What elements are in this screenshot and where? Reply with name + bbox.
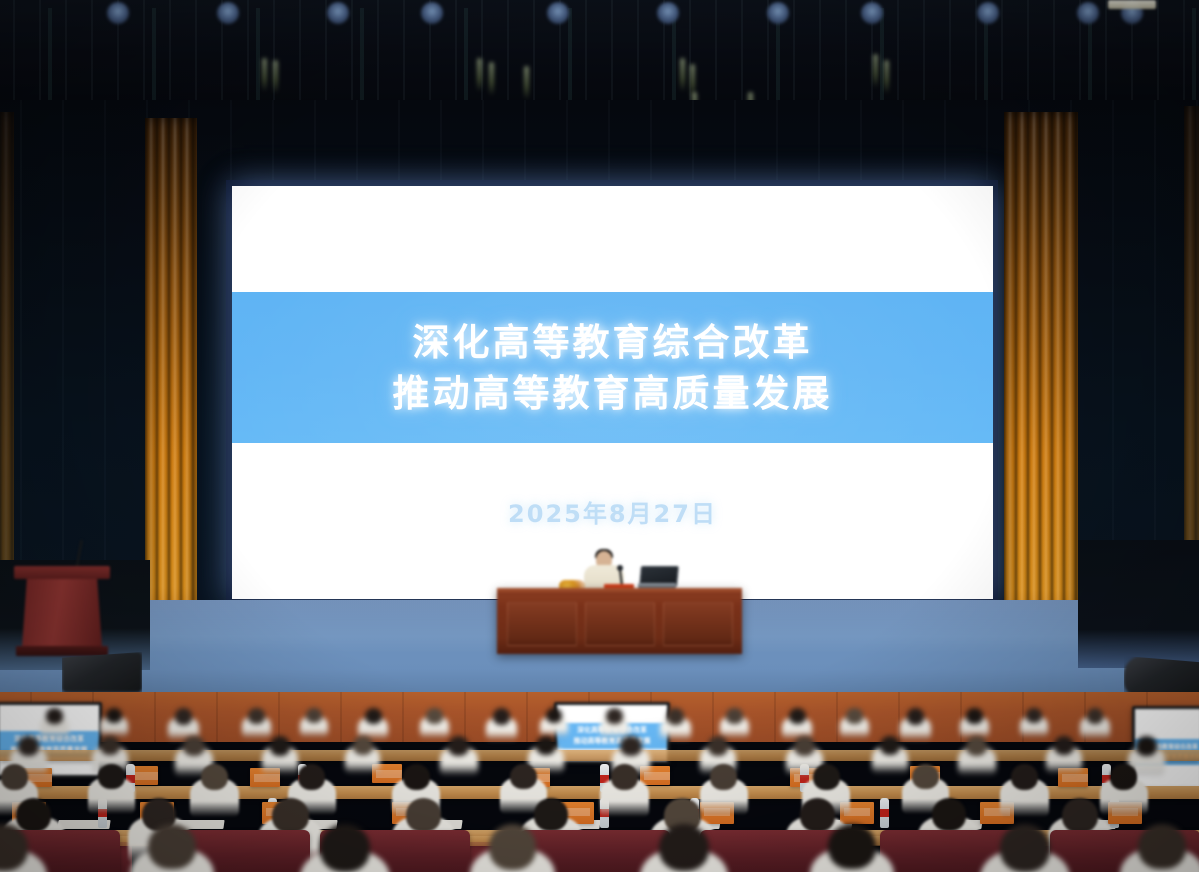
podium-lectern	[18, 566, 106, 658]
audience-member-head	[907, 708, 924, 725]
slide-title-block: 深化高等教育综合改革 推动高等教育高质量发展	[232, 292, 993, 443]
ceiling-lamp	[217, 2, 239, 24]
audience-member-head	[880, 736, 900, 755]
slide-date: 2025年8月27日	[232, 494, 993, 529]
audience-member-head	[1110, 764, 1137, 790]
ceiling-light-fixture	[1108, 0, 1156, 9]
audience-member-head	[18, 736, 39, 756]
audience-member-head	[106, 708, 122, 723]
audience-member-head	[611, 764, 639, 790]
audience-member-head	[183, 736, 204, 756]
audience-member-head	[1138, 824, 1185, 869]
audience-member-head	[966, 736, 987, 756]
audience-member-head	[270, 736, 290, 756]
audience-member-head	[912, 764, 938, 789]
audience-member-head	[546, 708, 562, 723]
stage-curtain-right	[1004, 112, 1078, 667]
head-table-panel	[585, 602, 655, 646]
audience-member-head	[1026, 708, 1042, 723]
audience-member-head	[659, 824, 709, 871]
audience-member-head	[272, 798, 308, 833]
audience-member-head	[1, 764, 28, 790]
stage-light-glint	[273, 60, 278, 94]
ceiling-lamp	[547, 2, 569, 24]
audience-member-head	[813, 764, 840, 790]
audience-member-head	[620, 736, 641, 756]
audience-member-head	[46, 708, 62, 724]
audience-member-head	[175, 708, 192, 725]
audience-member-head	[365, 708, 382, 724]
podium-body	[22, 579, 102, 647]
audience-member-head	[100, 736, 120, 755]
audience-member-head	[800, 798, 835, 832]
audience-member-head	[448, 736, 469, 756]
audience-member-head	[536, 736, 556, 755]
audience-member-head	[298, 764, 325, 790]
stage-wing-right	[1078, 540, 1199, 668]
slide-title-line-1: 深化高等教育综合改革	[413, 324, 813, 361]
ceiling-lamp	[767, 2, 789, 24]
audience-member-head	[306, 708, 322, 723]
head-table-panel	[663, 602, 733, 646]
audience-member-head	[789, 708, 806, 724]
audience-member-head	[708, 736, 728, 756]
audience-member-head	[606, 708, 622, 724]
projection-screen: 深化高等教育综合改革 推动高等教育高质量发展 2025年8月27日	[232, 186, 993, 599]
audience-member-head	[726, 708, 742, 724]
stage-monitor-speaker-left	[62, 652, 142, 692]
audience-member-head	[794, 736, 815, 756]
audience-member-head	[16, 798, 51, 832]
audience-member-head	[667, 708, 684, 725]
stage-light-glint	[262, 58, 267, 92]
slide-title-line-2: 推动高等教育高质量发展	[393, 375, 833, 412]
audience-member-head	[493, 708, 510, 725]
audience-member-head	[403, 764, 430, 790]
audience-member-head	[248, 708, 264, 724]
stage-curtain-left	[145, 118, 197, 663]
audience-member-head	[201, 764, 229, 790]
ceiling-rigging-secondary	[0, 8, 1199, 100]
audience-member-head	[1087, 708, 1104, 724]
auditorium-photo: 深化高等教育综合改革 推动高等教育高质量发展 2025年8月27日	[0, 0, 1199, 872]
water-bottle	[880, 798, 889, 828]
audience-member-head	[1136, 736, 1157, 756]
stage-monitor-speaker-right	[1124, 656, 1199, 696]
stage-light-glint	[680, 58, 685, 92]
audience-member-head	[966, 708, 982, 724]
stage-light-glint	[524, 66, 529, 100]
audience-member-head	[1000, 824, 1050, 872]
audience-member-head	[426, 708, 442, 724]
podium-base	[16, 646, 108, 656]
audience-area: 深化高等教育综合改革 推动高等教育高质量发展 深化高等教育综合改革 推动高等教育…	[0, 694, 1199, 872]
audience-member-head	[489, 824, 537, 870]
ceiling-lamp	[657, 2, 679, 24]
audience-member-head	[98, 764, 124, 789]
ceiling-lamp	[107, 2, 129, 24]
audience-member-head	[932, 798, 966, 831]
table-microphone-head	[617, 565, 623, 571]
audience-member-head	[406, 798, 441, 832]
head-table	[497, 588, 742, 654]
ceiling-lamp	[327, 2, 349, 24]
head-table-lip	[497, 588, 742, 595]
head-table-panel	[507, 602, 577, 646]
audience-member-head	[534, 798, 568, 831]
audience-member-head	[353, 736, 373, 755]
audience-member-head	[148, 824, 195, 869]
audience-member-head	[1054, 736, 1074, 755]
ceiling-lamp	[1077, 2, 1099, 24]
podium-top	[14, 566, 110, 579]
audience-member-head	[710, 764, 737, 790]
audience-member-head	[846, 708, 862, 724]
stage-light-glint	[873, 54, 878, 88]
audience-member-head	[828, 824, 875, 869]
audience-member-head	[1062, 798, 1098, 833]
ceiling-lamp	[421, 2, 443, 24]
audience-member-head	[1011, 764, 1039, 790]
audience-member-head	[510, 764, 536, 789]
ceiling-lamp	[861, 2, 883, 24]
ceiling-lamp	[977, 2, 999, 24]
stage-light-glint	[489, 62, 494, 96]
stage-light-glint	[884, 60, 889, 94]
stage-light-glint	[477, 58, 482, 92]
audience-member-head	[320, 824, 370, 872]
